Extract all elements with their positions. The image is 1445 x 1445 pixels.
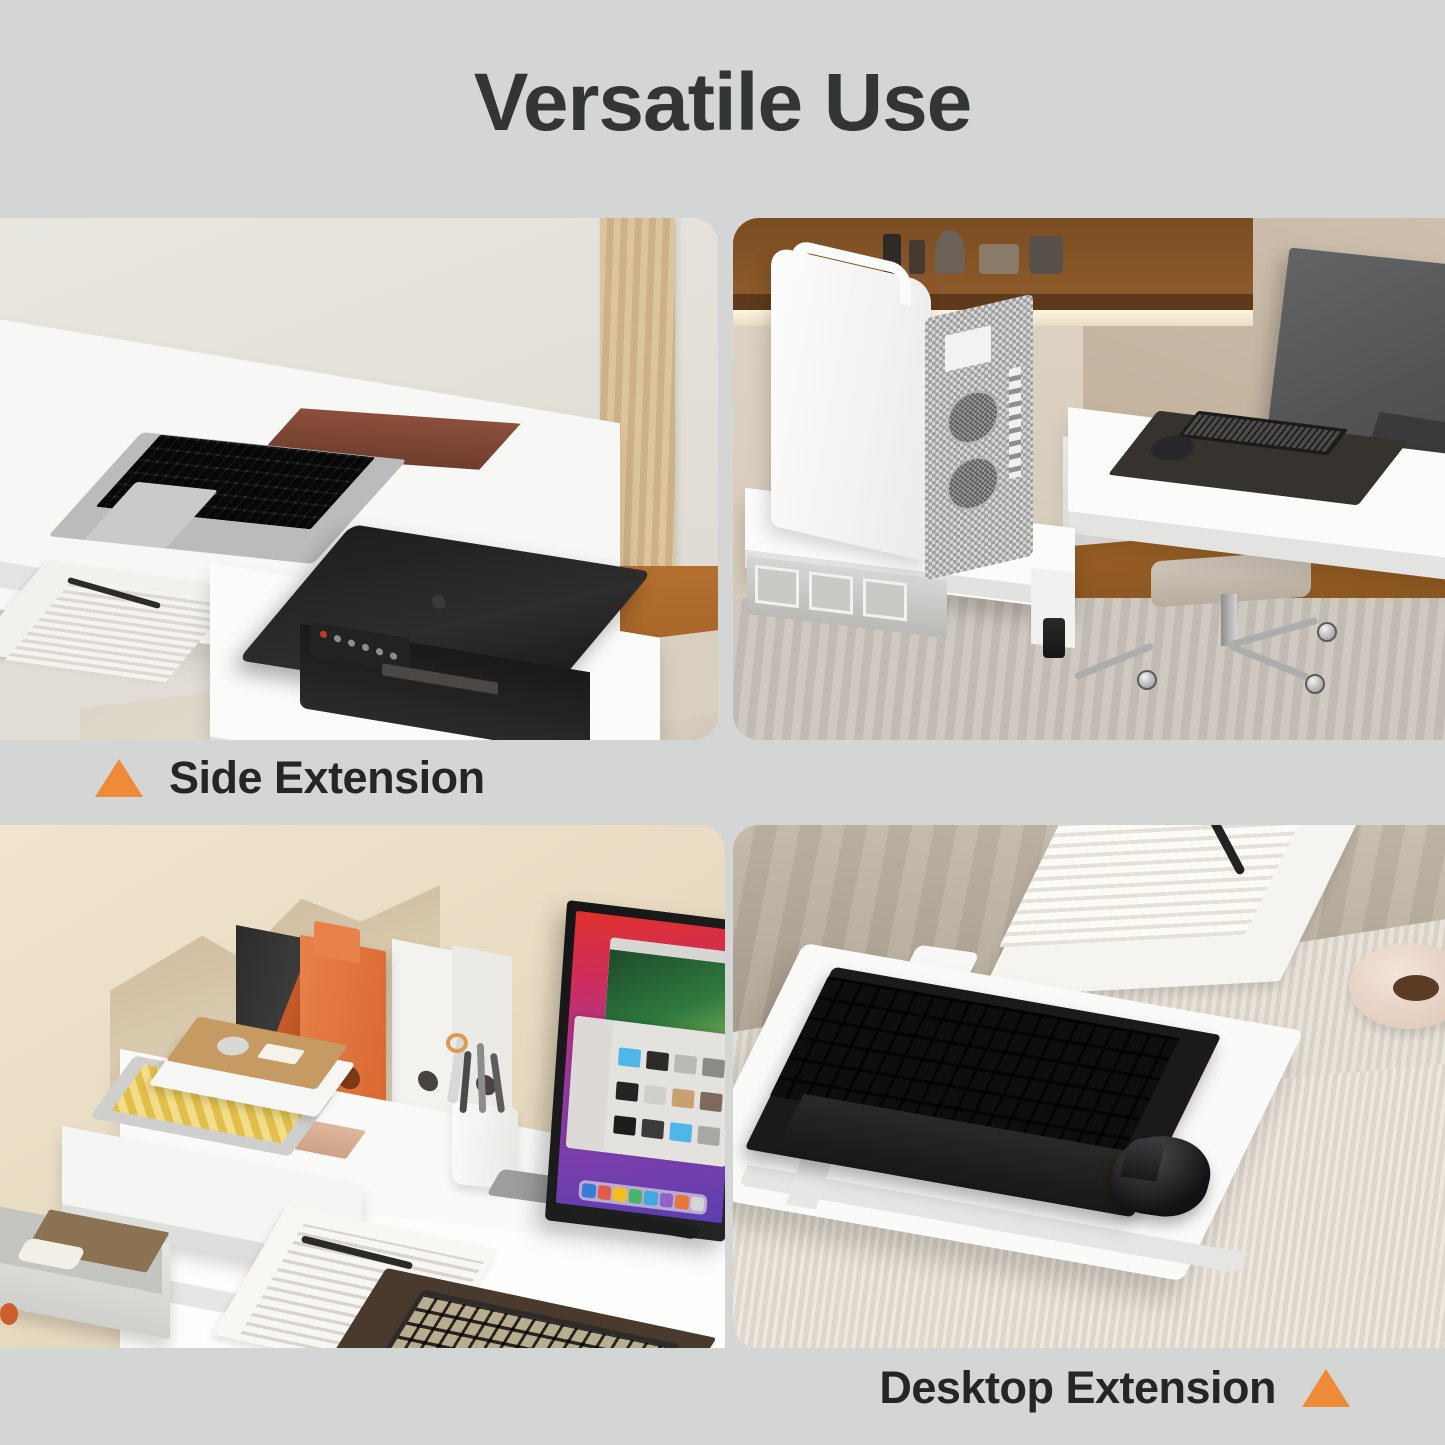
file-icon bbox=[671, 1088, 694, 1109]
file-manager-window bbox=[566, 1016, 725, 1168]
file-icon bbox=[697, 1126, 720, 1147]
monitor-screen bbox=[556, 911, 725, 1223]
office-chair-post bbox=[1221, 594, 1237, 646]
file-manager-sidebar bbox=[566, 1016, 613, 1153]
shelf-decor-objects bbox=[883, 226, 1073, 274]
file-icon bbox=[615, 1081, 638, 1102]
triangle-up-icon bbox=[1302, 1369, 1350, 1407]
file-icon bbox=[618, 1047, 641, 1068]
panel-bottom-left-desk-organizer bbox=[0, 825, 725, 1348]
panel-bottom-right-keyboard-tray bbox=[733, 825, 1445, 1348]
scene-tower-pc-on-side-extension bbox=[733, 218, 1445, 740]
chair-caster bbox=[1137, 670, 1157, 690]
file-icon bbox=[643, 1085, 666, 1106]
drawer-knob-icon bbox=[0, 1303, 18, 1325]
file-icon bbox=[646, 1051, 669, 1072]
scissors-handle bbox=[446, 1033, 468, 1053]
clamp-knob-icon bbox=[1043, 618, 1065, 658]
file-icon bbox=[641, 1119, 664, 1140]
panel-top-right-side-extension-pc bbox=[733, 218, 1445, 740]
file-icon bbox=[613, 1115, 636, 1136]
saucer-contents bbox=[1393, 975, 1439, 1001]
file-icon bbox=[699, 1092, 722, 1113]
page-title: Versatile Use bbox=[0, 62, 1445, 144]
chair-caster bbox=[1305, 674, 1325, 694]
panel-top-left-side-extension-printer bbox=[0, 218, 718, 740]
file-icon bbox=[702, 1058, 725, 1079]
scene-keyboard-tray bbox=[733, 825, 1445, 1348]
file-icon bbox=[674, 1054, 697, 1075]
triangle-up-icon bbox=[95, 759, 143, 797]
scene-printer-on-side-extension bbox=[0, 218, 718, 740]
caption-side-extension-label: Side Extension bbox=[169, 752, 485, 804]
file-icon bbox=[669, 1122, 692, 1143]
chair-caster bbox=[1317, 622, 1337, 642]
caption-side-extension: Side Extension bbox=[95, 752, 485, 804]
scene-desk-organizer bbox=[0, 825, 725, 1348]
tower-pc-mesh-front bbox=[925, 294, 1033, 581]
caption-desktop-extension: Desktop Extension bbox=[879, 1362, 1350, 1414]
caption-desktop-extension-label: Desktop Extension bbox=[879, 1362, 1276, 1414]
